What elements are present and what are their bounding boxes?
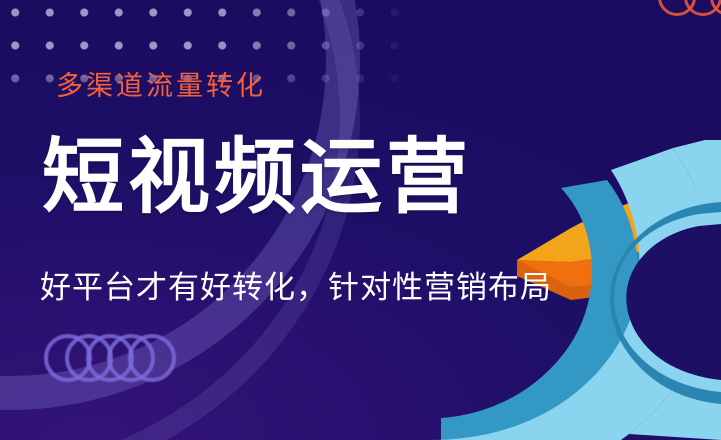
iso-blue-side xyxy=(601,244,721,440)
iso-blue-top-fill xyxy=(629,140,721,440)
purple-swoosh-band-secondary xyxy=(0,0,385,440)
iso-orange-front xyxy=(517,214,721,287)
iso-orange-side xyxy=(517,214,721,300)
iso-orange-top xyxy=(517,184,721,262)
subtitle-text: 好平台才有好转化，针对性营销布局 xyxy=(40,262,552,307)
banner-canvas: 多渠道流量转化 短视频运营 好平台才有好转化，针对性营销布局 xyxy=(0,0,721,440)
isometric-3d-shapes xyxy=(421,140,721,440)
purple-ring-4 xyxy=(107,334,155,382)
purple-ring-cluster xyxy=(44,334,194,384)
dot-grid-pattern xyxy=(0,0,414,104)
orange-ring-cluster xyxy=(658,0,721,38)
purple-ring-1 xyxy=(44,334,92,382)
purple-ring-2 xyxy=(65,334,113,382)
purple-swoosh-band xyxy=(0,0,395,440)
orange-ring-1 xyxy=(658,0,696,16)
banner-text-block: 多渠道流量转化 短视频运营 好平台才有好转化，针对性营销布局 xyxy=(0,0,721,440)
orange-ring-2 xyxy=(684,0,721,16)
iso-c-notch xyxy=(626,224,721,380)
eyebrow-text: 多渠道流量转化 xyxy=(56,64,266,103)
page-title: 短视频运营 xyxy=(42,135,472,221)
iso-blue-front xyxy=(441,180,638,440)
iso-c-notch-edge xyxy=(610,202,721,404)
purple-ring-3 xyxy=(86,334,134,382)
iso-blue-top xyxy=(429,148,712,440)
purple-ring-5 xyxy=(128,334,176,382)
orange-ring-3 xyxy=(710,0,721,16)
